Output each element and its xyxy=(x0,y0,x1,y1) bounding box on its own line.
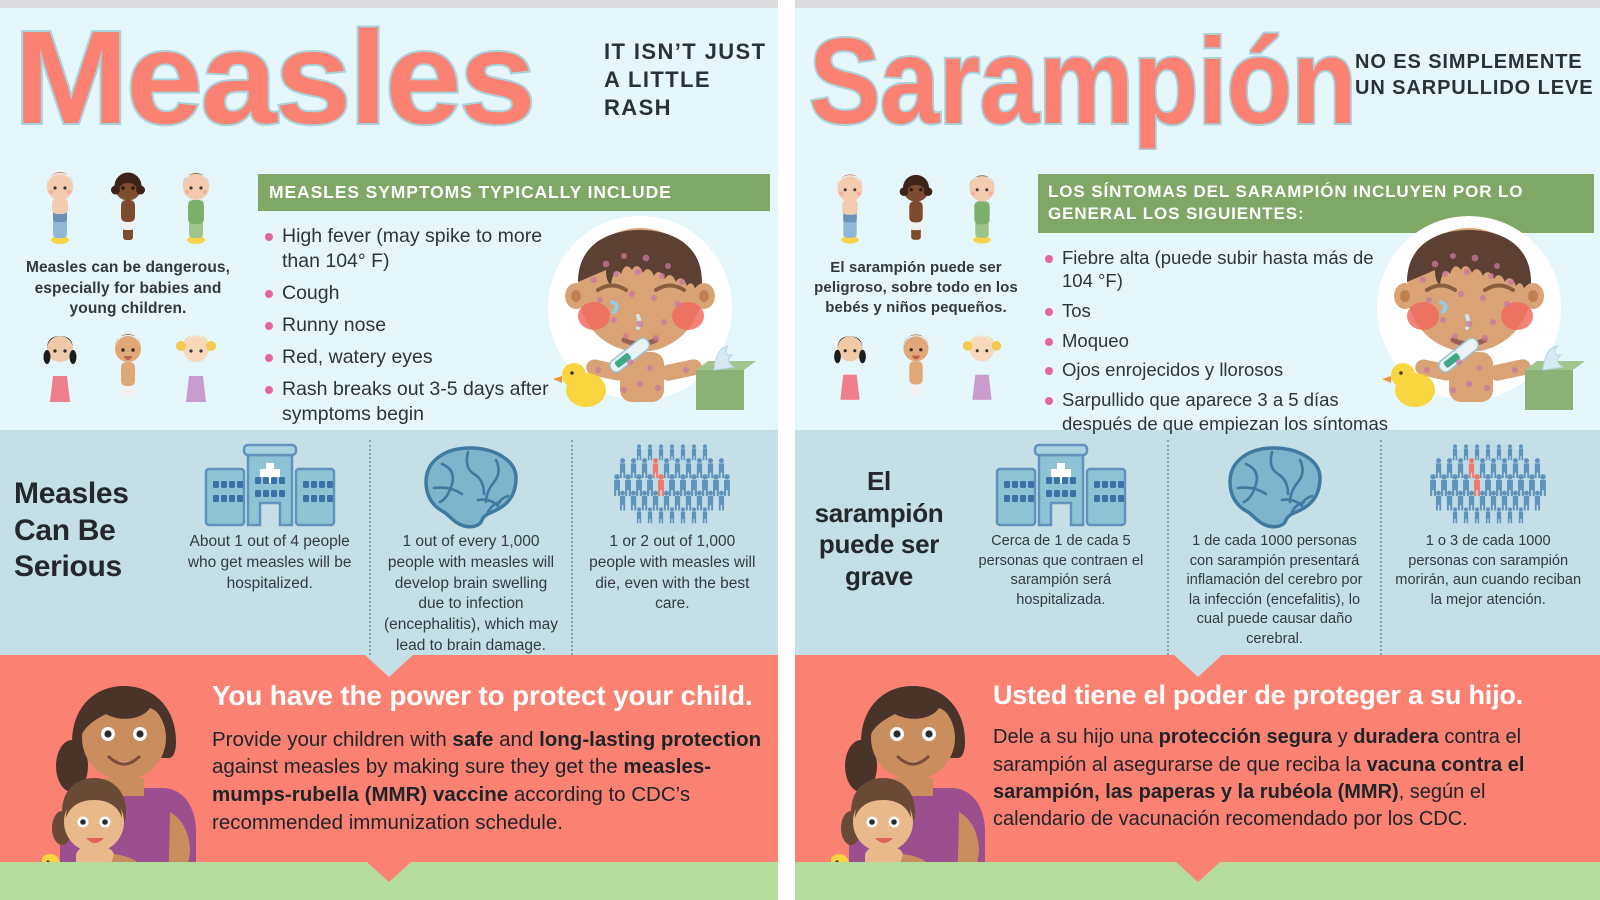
symptoms-list: High fever (may spike to more than 104° … xyxy=(258,211,770,427)
cta-emphasis: long-lasting protection xyxy=(539,728,761,751)
people-circle-icon-wrap xyxy=(1392,440,1584,532)
spanish-header: Sarampión NO ES SIMPLEMENTE UN SARPULLID… xyxy=(795,8,1600,168)
page-subtitle: IT ISN’T JUST A LITTLE RASH xyxy=(604,38,774,122)
bottom-green-bar-es xyxy=(795,862,1600,900)
hospital-icon xyxy=(204,443,336,529)
cta-text-run: Dele a su hijo una xyxy=(993,726,1159,748)
children-row-top-es xyxy=(801,168,1031,246)
hospital-icon-wrap xyxy=(180,440,359,532)
serious-stat-text: 1 o 3 de cada 1000 personas con sarampió… xyxy=(1392,532,1584,610)
cta-text-run: y xyxy=(1332,726,1353,748)
serious-stat-column: 1 or 2 out of 1,000 people with measles … xyxy=(571,440,772,655)
spanish-symptoms-zone: El sarampión puede ser peligroso, sobre … xyxy=(795,168,1600,430)
cta-body: You have the power to protect your child… xyxy=(212,679,764,837)
people-circle-icon-wrap xyxy=(583,440,762,532)
english-header: Measles IT ISN’T JUST A LITTLE RASH xyxy=(0,8,778,168)
cta-heading-es: Usted tiene el poder de proteger a su hi… xyxy=(993,679,1586,711)
people-circle-icon xyxy=(613,438,731,534)
cta-notch-icon-es xyxy=(1174,655,1222,677)
children-row-top xyxy=(8,168,248,246)
cta-text-run: and xyxy=(493,728,539,751)
serious-columns-es: Cerca de 1 de cada 5 personas que contra… xyxy=(955,440,1594,655)
page-subtitle-es: NO ES SIMPLEMENTE UN SARPULLIDO LEVE xyxy=(1355,50,1600,101)
symptom-item: Runny nose xyxy=(263,313,562,338)
serious-stat-column: 1 out of every 1,000 people with measles… xyxy=(369,440,570,655)
symptoms-box: MEASLES SYMPTOMS TYPICALLY INCLUDE High … xyxy=(258,174,770,434)
cta-paragraph: Provide your children with safe and long… xyxy=(212,726,764,838)
top-strip xyxy=(0,0,1600,8)
child-figure-4 xyxy=(34,330,86,408)
children-illustration-group: Measles can be dangerous, especially for… xyxy=(8,168,248,408)
symptom-item: Cough xyxy=(263,281,562,306)
child-figure-3-es xyxy=(957,170,1007,246)
serious-title: Measles Can Be Serious xyxy=(14,476,166,586)
page-title-es: Sarampión xyxy=(809,20,1356,142)
serious-stat-text: 1 de cada 1000 personas con sarampión pr… xyxy=(1179,532,1371,649)
symptom-item: Tos xyxy=(1043,299,1392,323)
english-symptoms-zone: Measles can be dangerous, especially for… xyxy=(0,168,778,430)
panel-divider xyxy=(778,0,795,900)
children-row-bottom-es xyxy=(801,328,1031,406)
child-figure-1 xyxy=(34,168,86,246)
serious-columns: About 1 out of 4 people who get measles … xyxy=(170,440,772,655)
symptom-item: Red, watery eyes xyxy=(263,345,562,370)
child-figure-2 xyxy=(102,168,154,246)
child-figure-6-es xyxy=(957,330,1007,406)
symptom-item: Ojos enrojecidos y llorosos xyxy=(1043,358,1392,382)
brain-icon-wrap xyxy=(381,440,560,532)
cta-text-run: against measles by making sure they get … xyxy=(212,755,623,778)
english-cta-band: You have the power to protect your child… xyxy=(0,655,778,900)
serious-stat-text: About 1 out of 4 people who get measles … xyxy=(180,532,359,594)
child-figure-4-es xyxy=(825,330,875,406)
cta-paragraph-es: Dele a su hijo una protección segura y d… xyxy=(993,724,1583,833)
child-figure-5-es xyxy=(891,330,941,406)
symptom-item: Rash breaks out 3-5 days after symptoms … xyxy=(263,377,562,427)
serious-stat-column: 1 o 3 de cada 1000 personas con sarampió… xyxy=(1380,440,1594,655)
cta-emphasis: duradera xyxy=(1353,726,1439,748)
cta-notch-icon xyxy=(365,655,413,677)
spanish-panel: Sarampión NO ES SIMPLEMENTE UN SARPULLID… xyxy=(795,8,1600,900)
serious-stat-text: 1 out of every 1,000 people with measles… xyxy=(381,532,560,657)
serious-stat-text: 1 or 2 out of 1,000 people with measles … xyxy=(583,532,762,615)
child-figure-6 xyxy=(170,330,222,408)
cta-emphasis: safe xyxy=(452,728,493,751)
english-serious-band: Measles Can Be Serious About 1 out of 4 … xyxy=(0,430,778,655)
child-figure-3 xyxy=(170,168,222,246)
bottom-arrow-icon-es xyxy=(1176,862,1220,882)
symptoms-header: MEASLES SYMPTOMS TYPICALLY INCLUDE xyxy=(258,174,770,211)
child-figure-2-es xyxy=(891,170,941,246)
cta-emphasis: protección segura xyxy=(1159,726,1332,748)
people-circle-icon xyxy=(1429,438,1547,534)
child-figure-1-es xyxy=(825,170,875,246)
hospital-icon-wrap xyxy=(965,440,1157,532)
spanish-serious-band: El sarampión puede ser grave Cerca de 1 … xyxy=(795,430,1600,655)
serious-stat-column: Cerca de 1 de cada 5 personas que contra… xyxy=(955,440,1167,655)
brain-icon xyxy=(412,442,530,530)
children-illustration-group-es: El sarampión puede ser peligroso, sobre … xyxy=(801,168,1031,406)
serious-stat-column: 1 de cada 1000 personas con sarampión pr… xyxy=(1167,440,1381,655)
symptoms-list-es: Fiebre alta (puede subir hasta más de 10… xyxy=(1038,233,1594,436)
bottom-arrow-icon xyxy=(367,862,411,882)
symptom-item: High fever (may spike to more than 104° … xyxy=(263,224,562,274)
bottom-green-bar xyxy=(0,862,778,900)
cta-body-es: Usted tiene el poder de proteger a su hi… xyxy=(993,679,1586,833)
infographic-stage: Measles IT ISN’T JUST A LITTLE RASH Meas… xyxy=(0,0,1600,900)
symptom-item: Moqueo xyxy=(1043,329,1392,353)
symptom-item: Fiebre alta (puede subir hasta más de 10… xyxy=(1043,246,1392,293)
english-panel: Measles IT ISN’T JUST A LITTLE RASH Meas… xyxy=(0,8,778,900)
brain-icon-wrap xyxy=(1179,440,1371,532)
children-caption: Measles can be dangerous, especially for… xyxy=(10,258,246,320)
page-title: Measles xyxy=(14,12,534,144)
cta-text-run: Provide your children with xyxy=(212,728,452,751)
serious-stat-text: Cerca de 1 de cada 5 personas que contra… xyxy=(965,532,1157,610)
child-figure-5 xyxy=(102,330,154,408)
children-caption-es: El sarampión puede ser peligroso, sobre … xyxy=(803,258,1029,318)
spanish-cta-band: Usted tiene el poder de proteger a su hi… xyxy=(795,655,1600,900)
symptom-item: Sarpullido que aparece 3 a 5 días despué… xyxy=(1043,388,1392,435)
hospital-icon xyxy=(995,443,1127,529)
serious-stat-column: About 1 out of 4 people who get measles … xyxy=(170,440,369,655)
cta-heading: You have the power to protect your child… xyxy=(212,679,764,713)
children-row-bottom xyxy=(8,330,248,408)
brain-icon xyxy=(1216,442,1334,530)
serious-title-es: El sarampión puede ser grave xyxy=(805,466,953,593)
